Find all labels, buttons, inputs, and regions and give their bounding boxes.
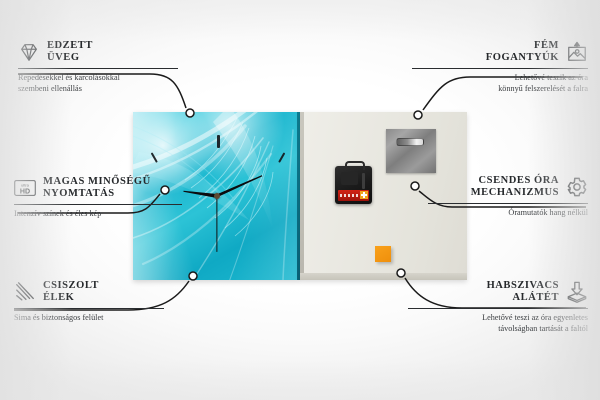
callout-subtitle: Óramutatók hang nélkül — [428, 207, 588, 218]
ultra-hd-icon: ultra HD — [14, 177, 36, 199]
battery-plus-icon — [360, 191, 368, 199]
mechanism-hook — [345, 161, 365, 170]
battery-label — [338, 190, 369, 201]
picture-hanger-icon — [566, 41, 588, 63]
foam-pad-arrow-icon — [566, 281, 588, 303]
callout-subtitle: Intenzív színek és éles kép — [14, 208, 182, 219]
back-panel-bottom-edge — [300, 273, 467, 280]
callout-divider — [428, 203, 588, 204]
diamond-icon — [18, 41, 40, 63]
battery-label-text — [340, 194, 362, 197]
callout-polished-edges[interactable]: CSISZOLT ÉLEK Sima és biztonságos felüle… — [14, 280, 164, 323]
callout-divider — [18, 68, 178, 69]
callout-divider — [408, 308, 588, 309]
polished-edges-icon — [14, 281, 36, 303]
back-panel-left-edge — [300, 112, 304, 280]
callout-title: FÉM FOGANTYÚK — [486, 40, 559, 65]
clock-second-hand — [216, 196, 217, 252]
callout-divider — [14, 204, 182, 205]
callout-divider — [14, 308, 164, 309]
svg-text:ultra: ultra — [21, 183, 29, 188]
hanger-slot — [396, 138, 424, 146]
clock-mechanism — [335, 166, 372, 204]
callout-foam-spacer[interactable]: HABSZIVACS ALÁTÉT Lehetővé teszi az óra … — [408, 280, 588, 334]
hour-tick — [217, 135, 220, 148]
hour-tick — [278, 152, 285, 163]
callout-title: CSISZOLT ÉLEK — [43, 280, 99, 305]
callout-subtitle: Sima és biztonságos felület — [14, 312, 164, 323]
callout-subtitle: Lehetővé teszi az óra egyenletes távolsá… — [408, 312, 588, 335]
callout-title: CSENDES ÓRA MECHANIZMUS — [471, 175, 559, 200]
clock-center-cap — [214, 193, 220, 199]
clock-minute-hand — [216, 174, 263, 197]
callout-title: HABSZIVACS ALÁTÉT — [487, 280, 559, 305]
callout-high-quality-print[interactable]: ultra HD MAGAS MINŐSÉGŰ NYOMTATÁS Intenz… — [14, 176, 182, 219]
clock-hour-hand — [183, 189, 217, 198]
gear-icon — [566, 176, 588, 198]
product-image — [133, 112, 467, 280]
callout-tempered-glass[interactable]: EDZETT ÜVEG Repedésekkel és karcolásokka… — [18, 40, 178, 94]
callout-subtitle: Repedésekkel és karcolásokkal szembeni e… — [18, 72, 178, 95]
callout-title: MAGAS MINŐSÉGŰ NYOMTATÁS — [43, 176, 151, 201]
product-infographic-canvas: EDZETT ÜVEG Repedésekkel és karcolásokka… — [0, 0, 600, 400]
callout-metal-handles[interactable]: FÉM FOGANTYÚK Lehetővé teszik az óra kön… — [412, 40, 588, 94]
svg-text:HD: HD — [20, 189, 30, 196]
mechanism-slit — [362, 173, 365, 189]
foam-spacer-pad — [375, 246, 391, 262]
metal-hanger-plate — [386, 129, 436, 173]
hour-tick — [150, 152, 157, 163]
callout-silent-mechanism[interactable]: CSENDES ÓRA MECHANIZMUS Óramutatók hang … — [428, 175, 588, 218]
mechanism-panel — [341, 172, 358, 185]
callout-title: EDZETT ÜVEG — [47, 40, 93, 65]
callout-divider — [412, 68, 588, 69]
callout-subtitle: Lehetővé teszik az óra könnyű felszerelé… — [412, 72, 588, 95]
